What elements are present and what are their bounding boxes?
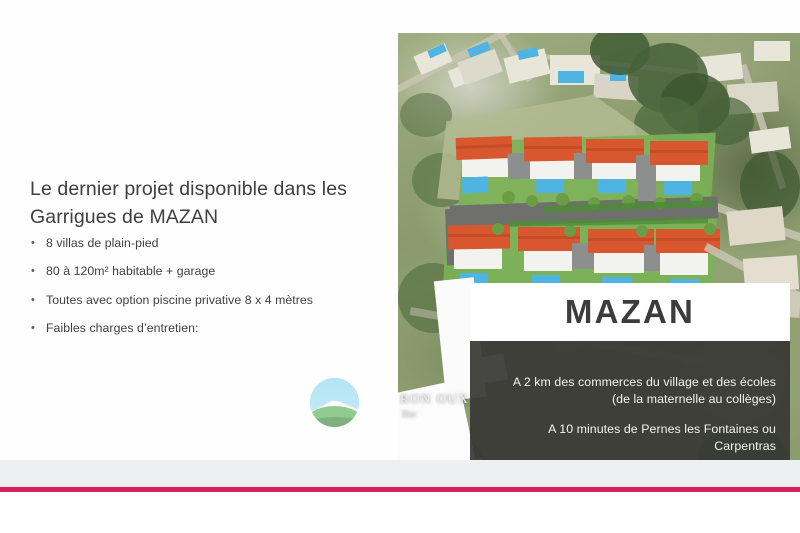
bullet-marker: • xyxy=(31,236,35,250)
tree xyxy=(492,223,504,235)
info-line-1: A 2 km des commerces du village et des é… xyxy=(510,374,776,407)
villa-roof-ridge xyxy=(586,148,644,151)
villa-roof xyxy=(650,141,708,165)
villa-roof-ridge xyxy=(448,234,510,237)
list-item: • 8 villas de plain-pied xyxy=(30,236,390,252)
info-line-2: A 10 minutes de Pernes les Fontaines ou … xyxy=(510,421,776,454)
list-item-label: 8 villas de plain-pied xyxy=(46,236,159,250)
tree xyxy=(556,193,569,206)
mountain-sun-logo-icon xyxy=(310,378,359,427)
footer-grey-band xyxy=(0,460,800,487)
list-item: • Toutes avec option piscine privative 8… xyxy=(30,293,390,309)
logo-hill-dark xyxy=(310,417,359,427)
villa-roof-ridge xyxy=(656,238,720,241)
villa-roof-ridge xyxy=(524,146,582,149)
villa-pool xyxy=(598,179,626,193)
tree xyxy=(636,225,648,237)
neighbour-building xyxy=(726,206,785,246)
bullet-list: • 8 villas de plain-pied • 80 à 120m² ha… xyxy=(30,236,390,350)
villa-wall xyxy=(660,251,708,275)
list-item-label: Toutes avec option piscine privative 8 x… xyxy=(46,293,313,307)
presentation-slide: RON OUX llier MAZAN A 2 km des commerces… xyxy=(0,0,800,533)
map-sub-label: llier xyxy=(402,409,417,419)
tree xyxy=(704,223,716,235)
villa-pool xyxy=(664,181,692,195)
tree xyxy=(502,191,515,204)
bullet-marker: • xyxy=(31,264,35,278)
mazan-heading-box: MAZAN xyxy=(470,283,790,341)
footer-white-area xyxy=(0,492,800,533)
list-item-label: Faibles charges d’entretien: xyxy=(46,321,198,335)
bullet-marker: • xyxy=(31,293,35,307)
neighbour-pool xyxy=(558,71,584,83)
mazan-heading-text: MAZAN xyxy=(565,293,695,331)
villa-garage xyxy=(638,179,656,201)
tree xyxy=(564,225,576,237)
villa-wall xyxy=(530,159,574,179)
villa-pool xyxy=(536,179,564,193)
villa-roof-ridge xyxy=(650,150,708,153)
list-item: • Faibles charges d’entretien: xyxy=(30,321,390,337)
tree-cluster xyxy=(400,93,452,137)
tree xyxy=(526,195,538,207)
villa-roof-ridge xyxy=(588,238,654,241)
neighbour-building xyxy=(754,41,790,61)
villa-pool xyxy=(462,176,489,193)
page-title: Le dernier projet disponible dans les Ga… xyxy=(30,176,380,231)
list-item: • 80 à 120m² habitable + garage xyxy=(30,264,390,280)
list-item-label: 80 à 120m² habitable + garage xyxy=(46,264,215,278)
bullet-marker: • xyxy=(31,321,35,335)
